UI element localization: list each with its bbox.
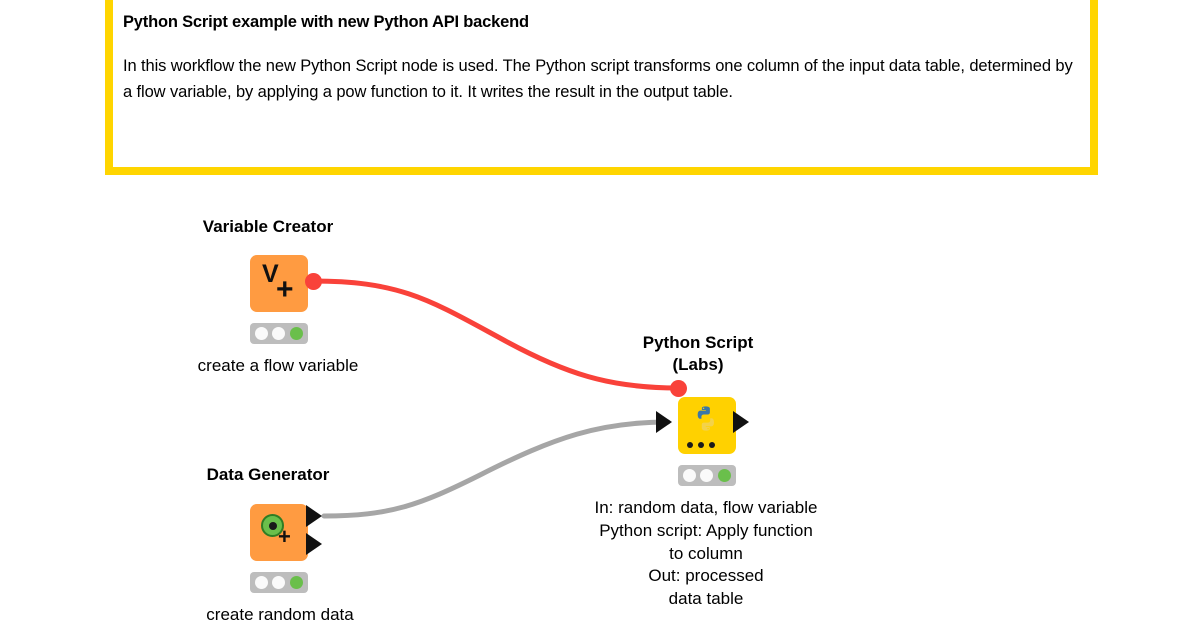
output-port-table-python-script[interactable] (733, 411, 749, 433)
output-port-table-1-data-generator[interactable] (306, 505, 322, 527)
node-body-python-script[interactable] (678, 397, 736, 454)
status-dot-executed (718, 469, 731, 482)
data-target-plus-icon: + (250, 504, 308, 561)
node-caption-variable-creator: create a flow variable (158, 355, 398, 378)
status-dot-idle-1 (255, 327, 268, 340)
status-dot-idle-1 (255, 576, 268, 589)
output-port-flow-variable-variable-creator[interactable] (305, 273, 322, 290)
status-dot-idle-1 (683, 469, 696, 482)
node-title-variable-creator: Variable Creator (168, 216, 368, 238)
node-caption-python-script: In: random data, flow variable Python sc… (551, 497, 861, 611)
node-body-variable-creator[interactable]: V + (250, 255, 308, 312)
input-port-table-python-script[interactable] (656, 411, 672, 433)
annotation-title: Python Script example with new Python AP… (123, 12, 1076, 33)
status-dot-idle-2 (272, 327, 285, 340)
status-bar-variable-creator (250, 323, 308, 344)
variable-plus-icon: V + (250, 255, 308, 312)
workflow-annotation-box: Python Script example with new Python AP… (105, 0, 1098, 175)
node-body-data-generator[interactable]: + (250, 504, 308, 561)
node-title-python-script-line2: (Labs) (673, 355, 724, 374)
status-dot-idle-2 (272, 576, 285, 589)
annotation-body: In this workflow the new Python Script n… (123, 53, 1076, 105)
status-dot-executed (290, 576, 303, 589)
node-title-python-script-line1: Python Script (643, 333, 754, 352)
status-dot-idle-2 (700, 469, 713, 482)
node-title-python-script: Python Script (Labs) (598, 332, 798, 377)
status-bar-data-generator (250, 572, 308, 593)
node-caption-data-generator: create random data (160, 604, 400, 627)
node-title-data-generator: Data Generator (178, 464, 358, 486)
input-port-flow-variable-python-script[interactable] (670, 380, 687, 397)
python-logo-icon (687, 404, 725, 442)
status-dot-executed (290, 327, 303, 340)
connection-data-table[interactable] (324, 422, 668, 516)
node-menu-dots-icon[interactable] (687, 442, 715, 448)
connection-flow-variable[interactable] (313, 281, 678, 388)
status-bar-python-script (678, 465, 736, 486)
output-port-table-2-data-generator[interactable] (306, 533, 322, 555)
